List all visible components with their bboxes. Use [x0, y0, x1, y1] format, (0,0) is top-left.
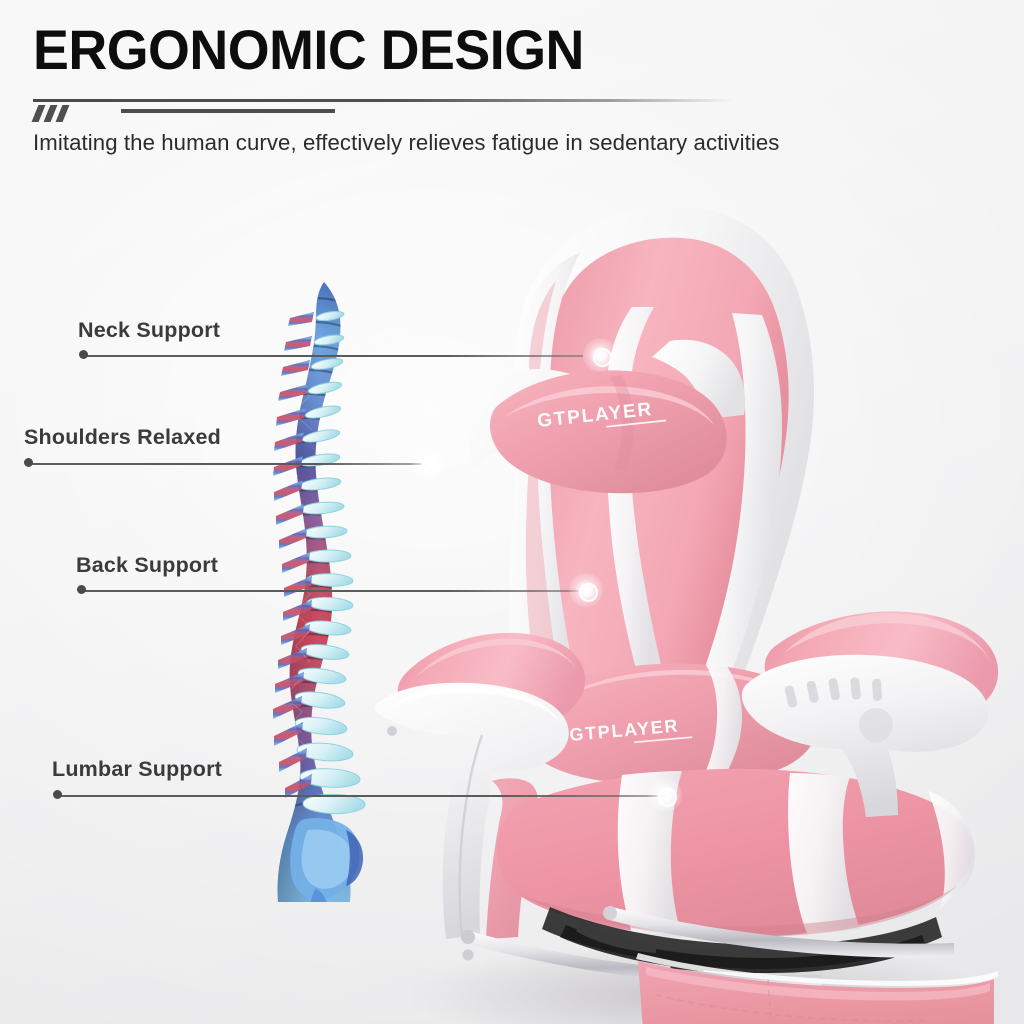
leader-line-lumbar-support	[57, 795, 668, 797]
hotspot-shoulders-relaxed[interactable]	[412, 446, 446, 480]
gaming-chair-illustration: GTPLAYER GTPLAYER	[370, 195, 1024, 1024]
page-subtitle: Imitating the human curve, effectively r…	[33, 130, 779, 156]
leader-dot-neck-support	[79, 350, 88, 359]
callout-label-back-support: Back Support	[76, 553, 218, 578]
callout-label-neck-support: Neck Support	[78, 318, 220, 343]
callout-label-lumbar-support: Lumbar Support	[52, 757, 222, 782]
header-rule-short	[121, 109, 335, 113]
leader-dot-back-support	[77, 585, 86, 594]
slash-accent-icon	[35, 105, 83, 123]
leader-line-neck-support	[83, 355, 583, 357]
leader-line-shoulders-relaxed	[28, 463, 428, 465]
header-rule-long	[33, 99, 733, 102]
hotspot-back-support[interactable]	[569, 573, 603, 607]
infographic-page: ERGONOMIC DESIGN Imitating the human cur…	[0, 0, 1024, 1024]
hotspot-lumbar-support[interactable]	[648, 778, 682, 812]
callout-label-shoulders-relaxed: Shoulders Relaxed	[24, 425, 221, 450]
leader-dot-shoulders-relaxed	[24, 458, 33, 467]
leader-dot-lumbar-support	[53, 790, 62, 799]
page-title: ERGONOMIC DESIGN	[33, 21, 584, 79]
spine-illustration	[268, 282, 384, 902]
hotspot-neck-support[interactable]	[583, 338, 617, 372]
leader-line-back-support	[81, 590, 585, 592]
